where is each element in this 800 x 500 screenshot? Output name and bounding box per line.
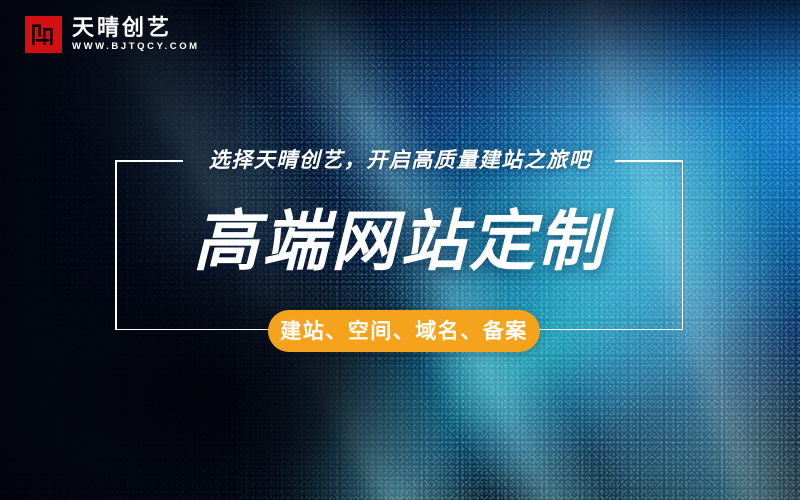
hero-cta-label: 建站、空间、域名、备案: [280, 321, 528, 342]
brand-url: WWW.BJTQCY.COM: [72, 42, 200, 52]
hero-cta-button[interactable]: 建站、空间、域名、备案: [268, 310, 540, 352]
brand-logo-text: 天晴创艺 WWW.BJTQCY.COM: [72, 17, 200, 52]
hero-title: 高端网站定制: [0, 204, 800, 280]
hero-tagline: 选择天晴创艺，开启高质量建站之旅吧: [0, 148, 800, 173]
tqcy-logo-mark-icon: [25, 16, 62, 53]
hero-banner: 天晴创艺 WWW.BJTQCY.COM 选择天晴创艺，开启高质量建站之旅吧 高端…: [0, 0, 800, 500]
brand-logo[interactable]: 天晴创艺 WWW.BJTQCY.COM: [25, 16, 200, 53]
brand-name-cn: 天晴创艺: [72, 17, 200, 39]
